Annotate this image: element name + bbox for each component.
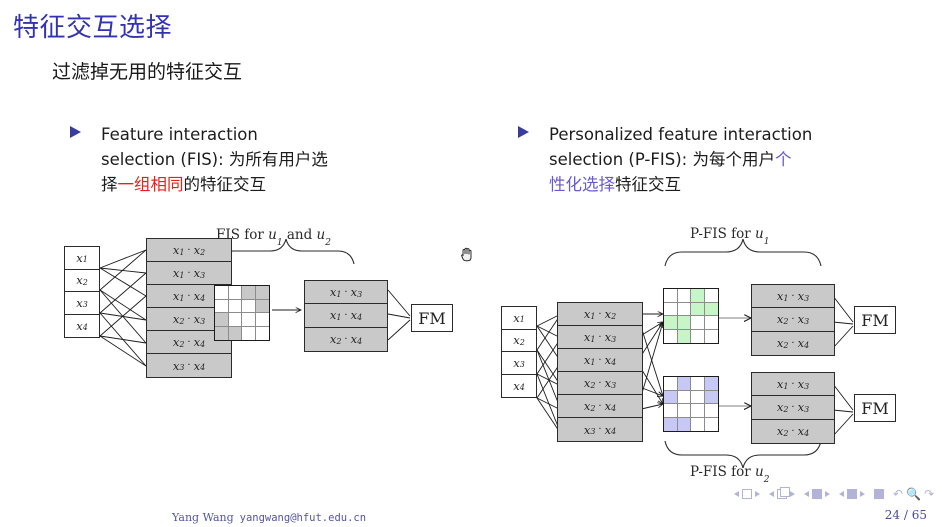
pfis-matrix-u2-cell: [691, 391, 705, 405]
fis-fm-box: FM: [411, 304, 453, 332]
pfis-matrix-u1-cell: [705, 330, 719, 344]
fis-selected-item: x1·x4: [305, 304, 387, 327]
pfis-matrix-u2-cell: [691, 377, 705, 391]
pfis-line3-post: 特征交互: [615, 175, 681, 194]
pfis-matrix-u1-cell: [678, 289, 692, 303]
pfis-fm-box-u1: FM: [854, 306, 896, 334]
fis-caption-sub1: 1: [277, 238, 283, 248]
fis-caption-sub2: 2: [325, 238, 331, 248]
triangle-bullet-icon: [518, 126, 529, 138]
pfis-selected-u1-item: x2·x3: [752, 308, 834, 331]
fis-line3-pre: 择: [101, 175, 118, 194]
fis-matrix-cell: [215, 327, 229, 341]
pfis-matrix-u2-cell: [691, 418, 705, 432]
bullet-block-pfis: Personalized feature interaction selecti…: [518, 122, 918, 197]
fis-input-item: x1: [65, 247, 99, 270]
fis-caption-mid: and: [283, 227, 317, 243]
fis-input-stack: x1x2x3x4: [64, 246, 100, 338]
fis-matrix-cell: [256, 300, 270, 314]
pfis-matrix-u1-cell: [664, 316, 678, 330]
pfis-matrix-u1-cell: [664, 289, 678, 303]
pfis-matrix-u2-cell: [664, 391, 678, 405]
pfis-highlight-a: 个: [775, 150, 792, 169]
pfis-input-stack: x1x2x3x4: [501, 306, 537, 398]
fis-caption: FIS for u1 and u2: [216, 227, 331, 246]
pfis-line1: Personalized feature interaction: [549, 125, 812, 144]
fis-term-item: x1·x2: [147, 239, 231, 262]
back-arrow-icon[interactable]: ↶: [893, 487, 903, 501]
fis-matrix-cell: [229, 286, 243, 300]
forward-arrow-icon[interactable]: ↷: [924, 487, 934, 501]
pfis-caption-bottom-pre: P-FIS for: [690, 464, 755, 480]
pfis-input-item: x2: [502, 330, 536, 353]
footer-author: Yang Wangyangwang@hfut.edu.cn: [172, 511, 366, 524]
next-slide-icon[interactable]: [755, 491, 760, 497]
pfis-matrix-u2-cell: [705, 404, 719, 418]
pfis-matrix-u1-cell: [691, 330, 705, 344]
fis-matrix-cell: [256, 313, 270, 327]
pfis-selected-u2-item: x1·x3: [752, 373, 834, 396]
pfis-fm-box-u2: FM: [854, 394, 896, 422]
pfis-matrix-u1-cell: [678, 316, 692, 330]
pfis-matrix-u2-cell: [705, 377, 719, 391]
pfis-term-item: x1·x4: [558, 349, 642, 372]
fis-line3-post: 的特征交互: [184, 175, 267, 194]
prev-subsection-icon[interactable]: [804, 491, 809, 497]
pfis-matrix-u1-cell: [664, 303, 678, 317]
pfis-matrix-u2-cell: [664, 418, 678, 432]
pfis-selected-u1-item: x1·x3: [752, 285, 834, 308]
hand-cursor-icon: [458, 246, 475, 263]
figure-pfis: P-FIS for u1 P-FIS for u2 x1x2x3x4 x1·x2…: [495, 228, 935, 486]
pfis-matrix-u1-cell: [664, 330, 678, 344]
pfis-selected-u2-item: x2·x4: [752, 420, 834, 443]
page-title: 特征交互选择: [13, 7, 172, 44]
pfis-interaction-stack: x1·x2x1·x3x1·x4x2·x3x2·x4x3·x4: [557, 302, 643, 442]
fis-term-item: x3·x4: [147, 354, 231, 377]
pfis-matrix-u1-cell: [691, 316, 705, 330]
nav-group-history[interactable]: ↶ 🔍 ↷: [893, 487, 934, 501]
pfis-matrix-u2-cell: [664, 404, 678, 418]
pfis-caption-top-sub: 1: [764, 237, 770, 247]
pfis-input-item: x1: [502, 307, 536, 330]
pfis-selected-stack-u2: x1·x3x2·x3x2·x4: [751, 372, 835, 444]
pfis-selection-matrix-u2: [663, 376, 719, 432]
fis-input-item: x3: [65, 292, 99, 315]
fis-matrix-cell: [242, 300, 256, 314]
bullet-text-fis: Feature interaction selection (FIS): 为所有…: [101, 122, 430, 197]
fis-selected-item: x1·x3: [305, 281, 387, 304]
fis-matrix-cell: [215, 300, 229, 314]
bullet-block-fis: Feature interaction selection (FIS): 为所有…: [70, 122, 430, 197]
pfis-selected-u1-item: x2·x4: [752, 332, 834, 355]
fis-matrix-cell: [215, 286, 229, 300]
pfis-matrix-u2-cell: [664, 377, 678, 391]
pfis-matrix-u1-cell: [705, 303, 719, 317]
pfis-matrix-u2-cell: [705, 391, 719, 405]
slide-root: 特征交互选择 过滤掉无用的特征交互 Feature interaction se…: [0, 0, 942, 527]
page-number: 24 / 65: [885, 508, 927, 522]
fis-input-item: x2: [65, 270, 99, 293]
pfis-matrix-u2-cell: [678, 391, 692, 405]
fis-highlight: 一组相同: [118, 175, 184, 194]
pfis-selection-matrix-u1: [663, 288, 719, 344]
bullet-text-pfis: Personalized feature interaction selecti…: [549, 122, 918, 197]
pfis-line2-pre: selection (P-FIS): 为每个用户: [549, 150, 775, 169]
footer-author-email[interactable]: yangwang@hfut.edu.cn: [240, 512, 366, 524]
next-subsection-icon[interactable]: [825, 491, 830, 497]
fis-matrix-cell: [215, 313, 229, 327]
fis-caption-var1: u: [268, 227, 277, 243]
fis-selection-matrix: [214, 285, 270, 341]
pfis-matrix-u1-cell: [678, 303, 692, 317]
pfis-caption-top: P-FIS for u1: [690, 226, 769, 245]
pfis-highlight-b: 性化选择: [549, 175, 615, 194]
pfis-input-item: x3: [502, 352, 536, 375]
pfis-matrix-u1-cell: [691, 289, 705, 303]
fis-matrix-cell: [229, 300, 243, 314]
frames-stack-icon[interactable]: [777, 489, 787, 499]
fis-term-item: x1·x3: [147, 262, 231, 285]
figure-fis: FIS for u1 and u2 x1x2x3x4 x1·x2x1·x3x1·…: [58, 228, 458, 408]
pfis-term-item: x3·x4: [558, 418, 642, 441]
pfis-term-item: x2·x3: [558, 372, 642, 395]
pfis-term-item: x1·x2: [558, 303, 642, 326]
pfis-matrix-u1-cell: [691, 303, 705, 317]
fis-selected-stack: x1·x3x1·x4x2·x4: [304, 280, 388, 352]
pfis-term-item: x2·x4: [558, 395, 642, 418]
fis-matrix-cell: [242, 286, 256, 300]
pfis-selected-u2-item: x2·x3: [752, 396, 834, 419]
subsection-icon[interactable]: [812, 489, 822, 499]
pfis-matrix-u1-cell: [705, 316, 719, 330]
prev-slide-icon[interactable]: [734, 491, 739, 497]
footer-author-name: Yang Wang: [172, 511, 234, 524]
section-icon[interactable]: [847, 489, 857, 499]
next-section-icon[interactable]: [860, 491, 865, 497]
nav-group-frame[interactable]: [769, 489, 795, 499]
fis-matrix-cell: [242, 327, 256, 341]
pfis-matrix-u1-cell: [705, 289, 719, 303]
prev-frame-icon[interactable]: [769, 491, 774, 497]
fis-input-item: x4: [65, 315, 99, 338]
pfis-matrix-u2-cell: [678, 404, 692, 418]
fis-matrix-cell: [229, 313, 243, 327]
pfis-selected-stack-u1: x1·x3x2·x3x2·x4: [751, 284, 835, 356]
fis-line1: Feature interaction: [101, 125, 258, 144]
pfis-matrix-u2-cell: [678, 377, 692, 391]
pfis-matrix-u2-cell: [691, 404, 705, 418]
pfis-term-item: x1·x3: [558, 326, 642, 349]
slide-square-icon[interactable]: [742, 489, 752, 499]
page-subtitle: 过滤掉无用的特征交互: [52, 57, 242, 84]
pfis-caption-bottom: P-FIS for u2: [690, 464, 769, 483]
pfis-caption-top-var: u: [755, 226, 764, 242]
fis-line2: selection (FIS): 为所有用户选: [101, 150, 328, 169]
fis-selected-item: x2·x4: [305, 328, 387, 351]
fis-matrix-cell: [256, 327, 270, 341]
nav-group-subsection[interactable]: [804, 489, 830, 499]
fis-caption-var2: u: [317, 227, 326, 243]
fis-matrix-cell: [242, 313, 256, 327]
triangle-bullet-icon: [70, 126, 81, 138]
pfis-matrix-u2-cell: [705, 418, 719, 432]
fis-matrix-cell: [256, 286, 270, 300]
doc-end-icon[interactable]: [874, 489, 884, 499]
nav-group-slide[interactable]: [734, 489, 760, 499]
pfis-caption-bottom-var: u: [755, 464, 764, 480]
search-icon[interactable]: 🔍: [906, 487, 921, 501]
nav-group-section[interactable]: [839, 489, 865, 499]
beamer-navigation-bar[interactable]: ↶ 🔍 ↷: [734, 487, 934, 501]
pfis-matrix-u1-cell: [678, 330, 692, 344]
pfis-input-item: x4: [502, 375, 536, 398]
pfis-caption-top-pre: P-FIS for: [690, 226, 755, 242]
next-frame-icon[interactable]: [790, 491, 795, 497]
pfis-matrix-u2-cell: [678, 418, 692, 432]
pfis-caption-bottom-sub: 2: [764, 475, 770, 485]
fis-matrix-cell: [229, 327, 243, 341]
prev-section-icon[interactable]: [839, 491, 844, 497]
